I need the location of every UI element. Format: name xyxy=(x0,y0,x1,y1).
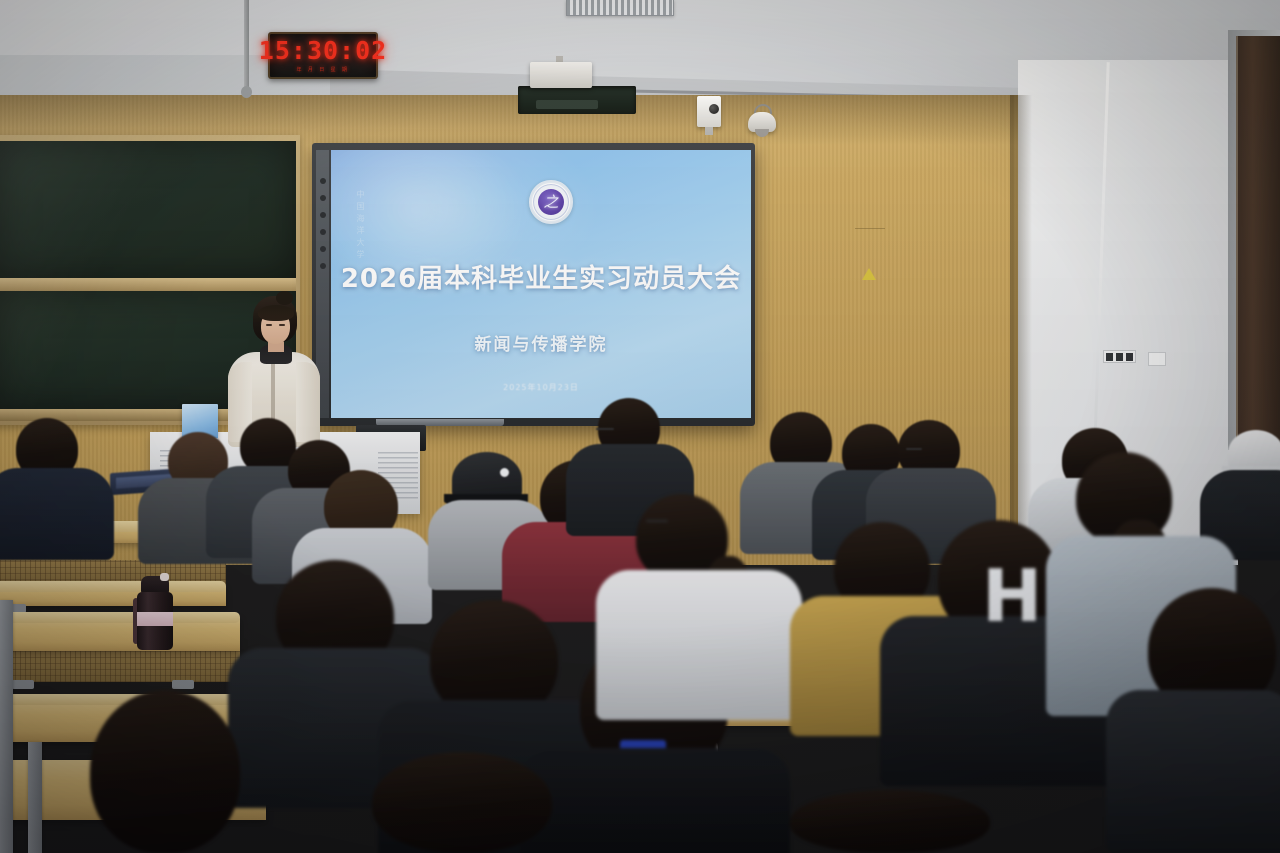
wall-digital-clock: 15:30:02 年 月 日 星 期 xyxy=(268,32,378,79)
presenter-eye-left xyxy=(266,324,272,326)
clock-time-display: 15:30:02 xyxy=(259,38,387,63)
presenter-shoulder-right xyxy=(296,362,320,442)
light-switch-plate[interactable] xyxy=(1103,350,1136,363)
bench-lip xyxy=(0,612,240,623)
switch-toggle-3[interactable] xyxy=(1126,353,1133,361)
bench-lip xyxy=(0,581,226,592)
audience-torso xyxy=(1106,690,1280,853)
slide-title: 2026届本科毕业生实习动员大会 xyxy=(331,258,751,295)
camera-mount xyxy=(705,127,713,135)
smartboard-button-3[interactable] xyxy=(320,212,326,218)
smartboard-button-2[interactable] xyxy=(320,195,326,201)
projector-lens xyxy=(536,100,598,109)
ceiling-mic-pole xyxy=(244,0,249,92)
presentation-screen[interactable]: 中国海洋大学 之 2026届本科毕业生实习动员大会 新闻与传播学院 2025年1… xyxy=(331,150,751,418)
smartboard-button-6[interactable] xyxy=(320,263,326,269)
switch-toggle-1[interactable] xyxy=(1106,353,1113,361)
audience-torso xyxy=(0,468,114,560)
bottle-button[interactable] xyxy=(160,573,169,581)
wall-seam-line xyxy=(855,228,885,229)
clock-date-label: 年 月 日 星 期 xyxy=(296,66,349,73)
smartboard-button-4[interactable] xyxy=(320,229,326,235)
switch-toggle-2[interactable] xyxy=(1116,353,1123,361)
bench-leg xyxy=(0,600,13,853)
glasses-icon xyxy=(646,520,668,522)
university-emblem-icon: 之 xyxy=(529,180,573,224)
audience-head xyxy=(90,690,240,853)
bench-bracket xyxy=(12,680,34,689)
glasses-icon xyxy=(596,428,614,430)
presenter-fringe xyxy=(258,305,294,321)
camera-lens xyxy=(709,104,719,114)
bottle-label-band xyxy=(137,612,173,626)
lecture-hall-photo: 15:30:02 年 月 日 星 期 中国海洋大学 之 20 xyxy=(0,0,1280,853)
wall-corner-shadow xyxy=(1010,95,1032,565)
ceiling-mic-icon xyxy=(241,86,252,98)
bench-leg xyxy=(28,742,42,853)
audience-head xyxy=(372,752,552,853)
slide-date: 2025年10月23日 xyxy=(331,382,751,393)
presenter-eye-right xyxy=(279,324,285,326)
smartboard-button-5[interactable] xyxy=(320,246,326,252)
classroom-door[interactable] xyxy=(1236,36,1280,448)
audience-torso xyxy=(520,748,790,853)
slide-subtitle: 新闻与传播学院 xyxy=(331,330,751,355)
presenter-hair-bun xyxy=(276,291,293,305)
smartboard-button-1[interactable] xyxy=(320,178,326,184)
audience-head xyxy=(790,790,990,853)
audience-torso xyxy=(596,570,802,720)
glasses-icon xyxy=(906,448,922,450)
jacket-letter-graphic: H xyxy=(982,560,1042,632)
security-camera-icon xyxy=(697,96,721,127)
blackboard-upper xyxy=(0,141,296,278)
emblem-ring xyxy=(532,183,570,221)
wall-outlet[interactable] xyxy=(1148,352,1166,366)
air-vent-icon xyxy=(566,0,674,16)
cap-logo-icon xyxy=(500,468,509,477)
bench-mesh-panel xyxy=(0,648,240,682)
projector-icon xyxy=(530,62,592,88)
blackboard-middle-rail xyxy=(0,278,296,291)
bench-bracket xyxy=(172,680,194,689)
